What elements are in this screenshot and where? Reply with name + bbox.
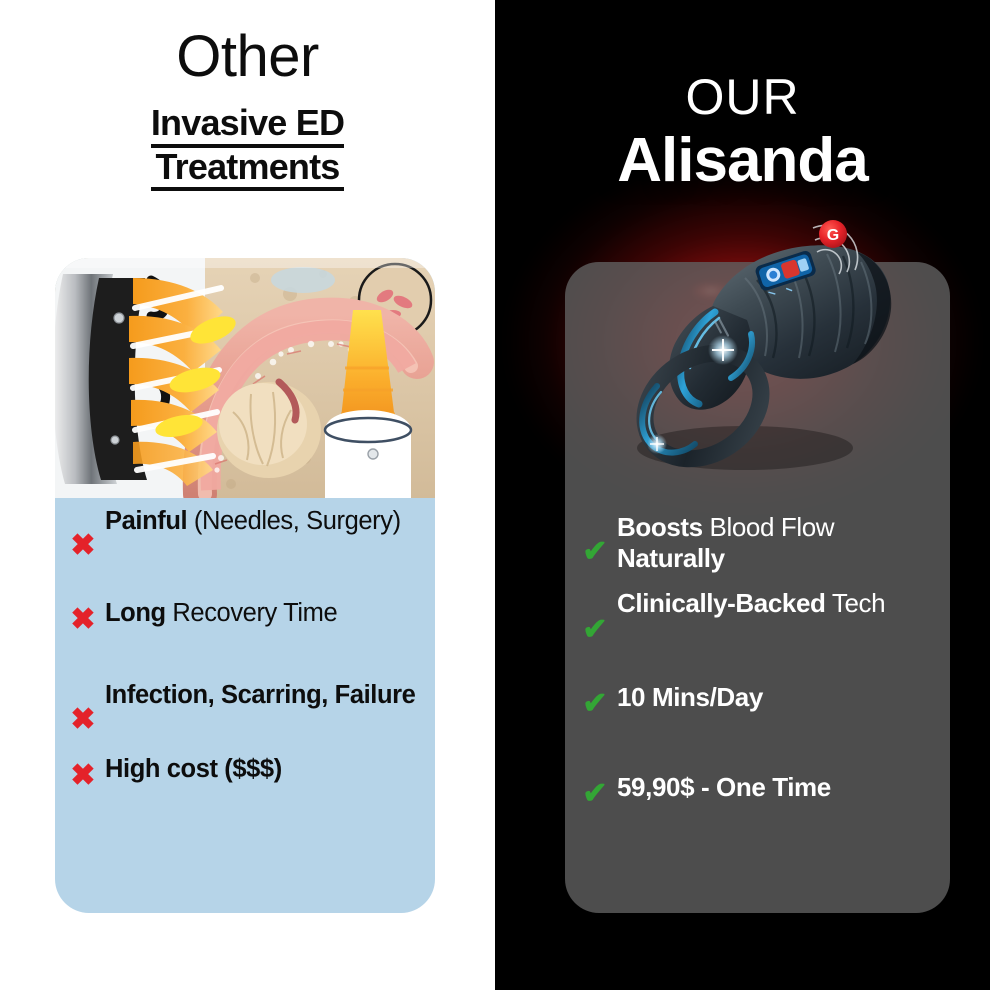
left-heading-group: Other Invasive ED Treatments <box>0 0 495 191</box>
device-badge-letter: G <box>827 227 839 244</box>
right-heading-brand: Alisanda <box>495 128 990 193</box>
left-bullet-text-3: Infection, Scarring, Failure <box>105 680 419 711</box>
right-bullet-bold-1: Boosts <box>617 512 703 542</box>
left-heading-other: Other <box>0 28 495 86</box>
left-bullet-reg-2: Recovery Time <box>166 599 338 627</box>
left-heading-subtitle-line2: Treatments <box>151 148 344 192</box>
left-heading-subtitle: Invasive ED Treatments <box>151 104 344 191</box>
right-heading-group: OUR Alisanda <box>495 0 990 193</box>
x-mark-icon: ✖ <box>61 506 105 564</box>
x-mark-icon: ✖ <box>61 680 105 738</box>
left-bullet-bold-1: Painful <box>105 507 187 535</box>
list-item: ✖ Painful (Needles, Surgery) <box>61 506 419 564</box>
left-bullet-bold-4: High cost ($$$) <box>105 755 282 783</box>
right-bullet-reg-2: Tech <box>826 588 886 618</box>
right-bullet-list: ✔ Boosts Blood Flow Naturally ✔ Clinical… <box>565 512 950 826</box>
left-bullet-text-1: Painful (Needles, Surgery) <box>105 506 419 537</box>
right-bullet-bold-3: 10 Mins/Day <box>617 682 763 712</box>
check-mark-icon: ✔ <box>573 588 617 648</box>
right-bullet-text-2: Clinically-Backed Tech <box>617 588 936 619</box>
left-bullet-reg-1: (Needles, Surgery) <box>187 507 400 535</box>
list-item: ✔ Boosts Blood Flow Naturally <box>573 512 936 574</box>
left-bullet-text-2: Long Recovery Time <box>105 598 419 629</box>
left-heading-subtitle-line1: Invasive ED <box>151 104 344 148</box>
check-mark-icon: ✔ <box>573 682 617 722</box>
list-item: ✔ 10 Mins/Day <box>573 682 936 722</box>
product-image: G <box>595 200 935 500</box>
right-panel-our-product: OUR Alisanda ✔ Boosts Blood Flow Natural… <box>495 0 990 990</box>
right-bullet-bold-4: 59,90$ - One Time <box>617 772 831 802</box>
check-mark-icon: ✔ <box>573 772 617 812</box>
right-bullet-text-4: 59,90$ - One Time <box>617 772 936 803</box>
right-bullet-bold-2: Clinically-Backed <box>617 588 826 618</box>
left-bullet-list: ✖ Painful (Needles, Surgery) ✖ Long Reco… <box>55 506 435 808</box>
left-bullet-text-4: High cost ($$$) <box>105 754 419 785</box>
list-item: ✖ Long Recovery Time <box>61 598 419 638</box>
list-item: ✖ High cost ($$$) <box>61 754 419 794</box>
left-card: ✖ Painful (Needles, Surgery) ✖ Long Reco… <box>55 258 435 913</box>
left-panel-other-treatments: Other Invasive ED Treatments <box>0 0 495 990</box>
list-item: ✔ 59,90$ - One Time <box>573 772 936 812</box>
x-mark-icon: ✖ <box>61 754 105 794</box>
list-item: ✖ Infection, Scarring, Failure <box>61 680 419 738</box>
check-mark-icon: ✔ <box>573 512 617 570</box>
right-bullet-text-3: 10 Mins/Day <box>617 682 936 713</box>
left-bullet-bold-3: Infection, Scarring, Failure <box>105 681 415 709</box>
medical-illustration <box>55 258 435 498</box>
x-mark-icon: ✖ <box>61 598 105 638</box>
medical-shockwave-anatomy-illustration <box>55 258 435 498</box>
list-item: ✔ Clinically-Backed Tech <box>573 588 936 648</box>
right-heading-our: OUR <box>495 72 990 122</box>
right-bullet-bold-1b: Naturally <box>617 543 725 573</box>
alisanda-ring-device: G <box>595 200 935 500</box>
right-bullet-text-1: Boosts Blood Flow Naturally <box>617 512 936 574</box>
left-bullet-bold-2: Long <box>105 599 166 627</box>
comparison-graphic: Other Invasive ED Treatments <box>0 0 990 990</box>
right-bullet-reg-1: Blood Flow <box>703 512 834 542</box>
